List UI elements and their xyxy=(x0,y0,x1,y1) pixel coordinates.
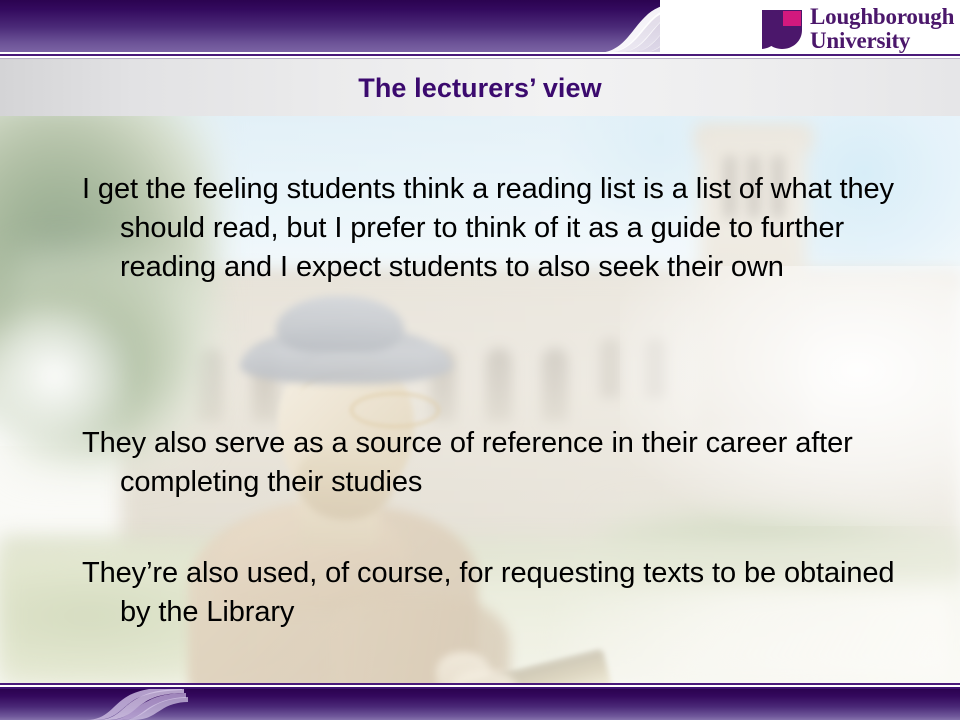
body-paragraph-2: They also serve as a source of reference… xyxy=(82,424,920,502)
logo-line-1: Loughborough xyxy=(810,5,954,28)
slide-title: The lecturers’ view xyxy=(0,73,960,104)
footer-purple-band xyxy=(0,689,960,720)
logo-wordmark: Loughborough University xyxy=(810,5,954,52)
body-paragraph-1: I get the feeling students think a readi… xyxy=(82,170,910,287)
slide: Loughborough University The lecturers’ v… xyxy=(0,0,960,720)
body-text-layer: I get the feeling students think a readi… xyxy=(0,116,960,686)
footer-swoosh-graphic xyxy=(78,689,208,720)
header-swoosh-graphic xyxy=(596,0,726,52)
university-logo: Loughborough University xyxy=(760,6,956,52)
logo-line-2: University xyxy=(810,29,954,52)
body-paragraph-3: They’re also used, of course, for reques… xyxy=(82,554,920,632)
loughborough-shield-icon xyxy=(760,8,804,50)
